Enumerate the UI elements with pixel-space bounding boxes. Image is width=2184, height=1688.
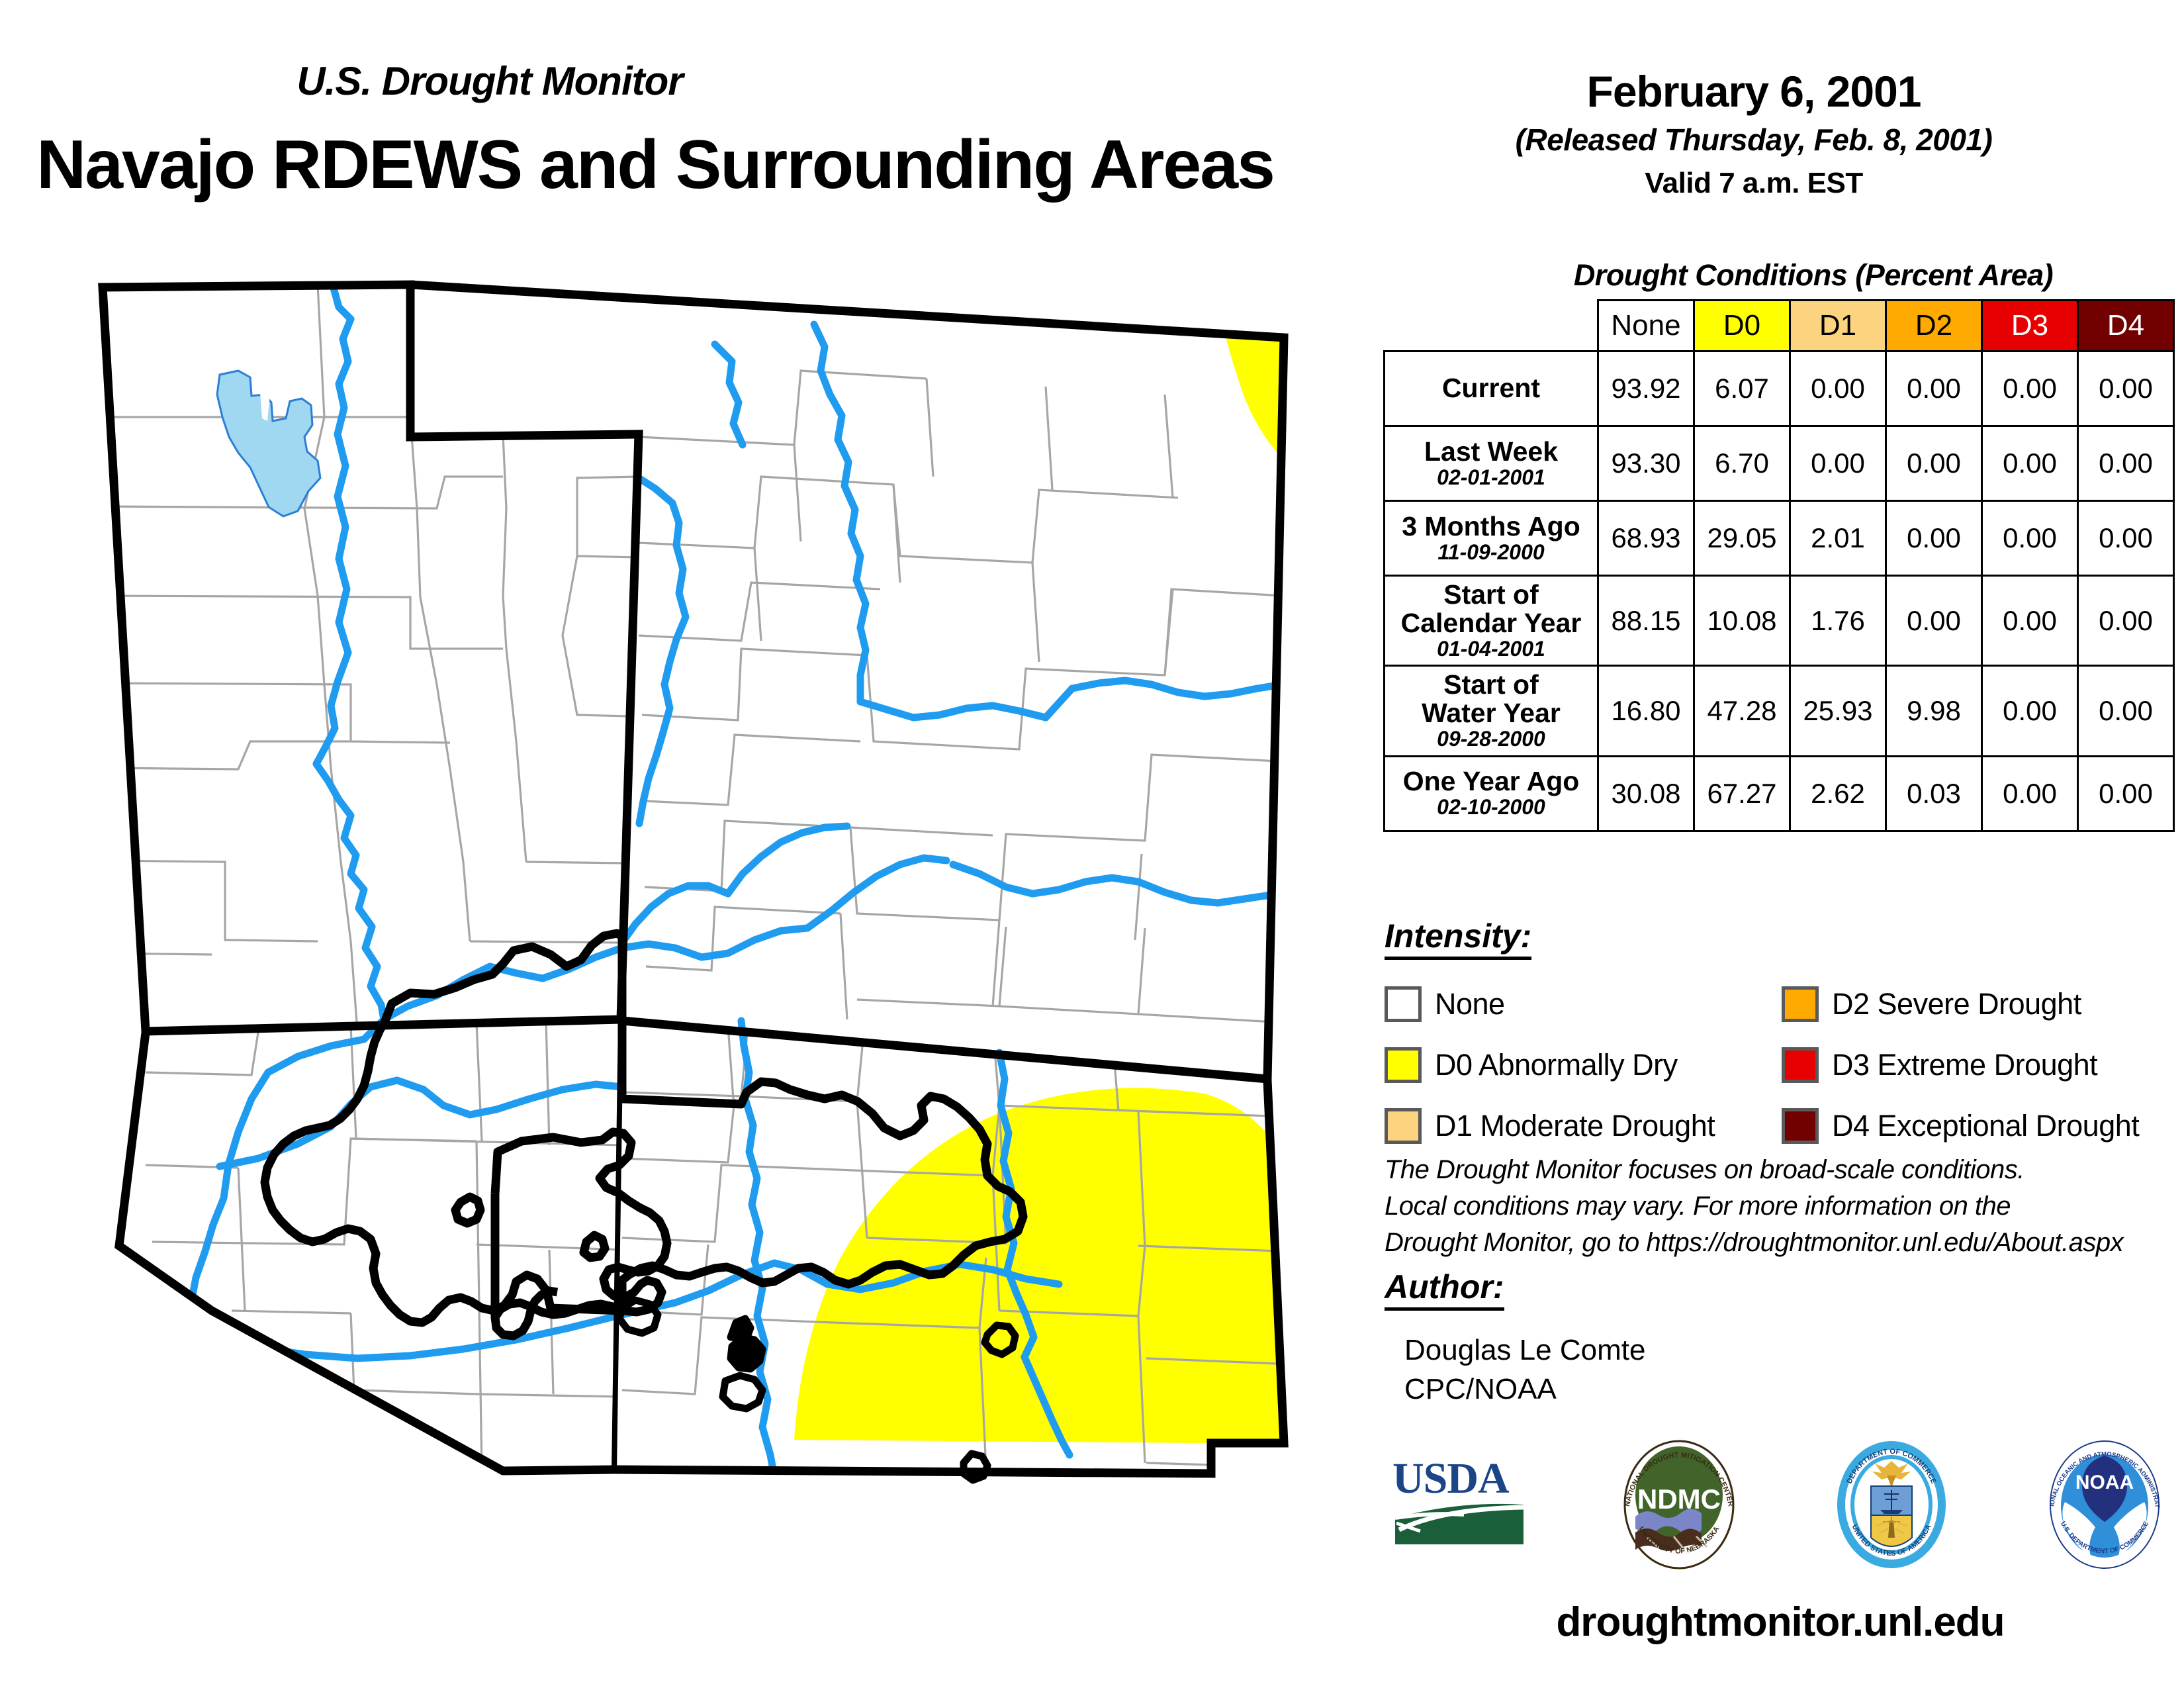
row-label-date: 02-10-2000 (1392, 796, 1590, 819)
table-cell-d2: 9.98 (1886, 666, 1982, 756)
table-cell-d0: 67.27 (1694, 756, 1790, 831)
table-cell-none: 16.80 (1598, 666, 1694, 756)
svg-text:NDMC: NDMC (1637, 1483, 1721, 1515)
row-label-text: Current (1392, 374, 1590, 402)
row-label-date: 09-28-2000 (1392, 727, 1590, 751)
author-name: Douglas Le Comte (1404, 1331, 1645, 1370)
table-cell-d3: 0.00 (1982, 352, 2078, 426)
release-date: (Released Thursday, Feb. 8, 2001) (1443, 122, 2065, 158)
program-title: U.S. Drought Monitor (0, 58, 979, 104)
legend-swatch-icon (1782, 1108, 1819, 1144)
intensity-heading: Intensity: (1385, 917, 1531, 960)
legend-item: D2 Severe Drought (1782, 980, 2165, 1029)
table-cell-d1: 2.01 (1790, 501, 1886, 576)
great-salt-lake (217, 371, 320, 516)
row-label-text: Last Week (1392, 438, 1590, 466)
intensity-legend: NoneD2 Severe DroughtD0 Abnormally DryD3… (1385, 980, 2165, 1150)
table-cell-d4: 0.00 (2078, 666, 2174, 756)
table-cell-none: 93.92 (1598, 352, 1694, 426)
legend-item: D1 Moderate Drought (1385, 1102, 1782, 1150)
table-row: Current93.926.070.000.000.000.00 (1385, 352, 2174, 426)
table-cell-d3: 0.00 (1982, 666, 2078, 756)
legend-label: D0 Abnormally Dry (1435, 1048, 1678, 1082)
noaa-logo: NOAA NATIONAL OCEANIC AND ATMOSPHERIC AD… (2038, 1438, 2171, 1574)
legend-swatch-icon (1385, 986, 1422, 1022)
legend-item: D4 Exceptional Drought (1782, 1102, 2165, 1150)
table-row: Last Week02-01-200193.306.700.000.000.00… (1385, 426, 2174, 501)
table-cell-d3: 0.00 (1982, 501, 2078, 576)
table-cell-d1: 0.00 (1790, 426, 1886, 501)
row-label-text: One Year Ago (1392, 767, 1590, 796)
column-header-d3: D3 (1982, 301, 2078, 352)
table-cell-d4: 0.00 (2078, 756, 2174, 831)
table-cell-d2: 0.00 (1886, 576, 1982, 666)
logo-row: USDA NDMC NATIONAL DROUGHT MITIGATION CE… (1390, 1440, 2171, 1572)
svg-text:★: ★ (1856, 1501, 1866, 1513)
table-cell-none: 30.08 (1598, 756, 1694, 831)
svg-text:★: ★ (1917, 1501, 1927, 1513)
row-label-text: Start ofWater Year (1392, 671, 1590, 727)
legend-swatch-icon (1385, 1108, 1422, 1144)
table-cell-d0: 47.28 (1694, 666, 1790, 756)
table-cell-d4: 0.00 (2078, 576, 2174, 666)
table-row-label: Start ofWater Year09-28-2000 (1385, 666, 1598, 756)
table-row: One Year Ago02-10-200030.0867.272.620.03… (1385, 756, 2174, 831)
row-label-text: 3 Months Ago (1392, 512, 1590, 541)
row-label-date: 01-04-2001 (1392, 637, 1590, 661)
table-cell-d0: 10.08 (1694, 576, 1790, 666)
table-cell-d3: 0.00 (1982, 756, 2078, 831)
table-cell-none: 68.93 (1598, 501, 1694, 576)
table-cell-d2: 0.00 (1886, 501, 1982, 576)
disclaimer-line-3: Drought Monitor, go to https://droughtmo… (1385, 1225, 2179, 1261)
table-cell-d1: 2.62 (1790, 756, 1886, 831)
row-label-date: 02-01-2001 (1392, 466, 1590, 489)
table-header-row: None D0 D1 D2 D3 D4 (1385, 301, 2174, 352)
table-row-label: Current (1385, 352, 1598, 426)
author-block: Douglas Le Comte CPC/NOAA (1404, 1331, 1645, 1409)
author-affiliation: CPC/NOAA (1404, 1370, 1645, 1409)
legend-label: D4 Exceptional Drought (1832, 1109, 2139, 1143)
table-row-label: One Year Ago02-10-2000 (1385, 756, 1598, 831)
table-row: 3 Months Ago11-09-200068.9329.052.010.00… (1385, 501, 2174, 576)
disclaimer-line-2: Local conditions may vary. For more info… (1385, 1188, 2179, 1225)
table-row: Start ofCalendar Year01-04-200188.1510.0… (1385, 576, 2174, 666)
row-label-text: Start ofCalendar Year (1392, 581, 1590, 637)
valid-date: February 6, 2001 (1443, 66, 2065, 117)
legend-swatch-icon (1782, 1047, 1819, 1083)
legend-label: D2 Severe Drought (1832, 987, 2081, 1021)
drought-map (40, 278, 1350, 1549)
legend-label: D3 Extreme Drought (1832, 1048, 2097, 1082)
table-cell-d4: 0.00 (2078, 501, 2174, 576)
column-header-d0: D0 (1694, 301, 1790, 352)
table-cell-d0: 6.70 (1694, 426, 1790, 501)
row-label-date: 11-09-2000 (1392, 541, 1590, 564)
table-cell-none: 88.15 (1598, 576, 1694, 666)
table-corner-cell (1385, 301, 1598, 352)
table-cell-d1: 25.93 (1790, 666, 1886, 756)
legend-label: D1 Moderate Drought (1435, 1109, 1715, 1143)
table-row-label: Start ofCalendar Year01-04-2001 (1385, 576, 1598, 666)
disclaimer: The Drought Monitor focuses on broad-sca… (1385, 1152, 2179, 1262)
disclaimer-line-1: The Drought Monitor focuses on broad-sca… (1385, 1152, 2179, 1188)
column-header-d2: D2 (1886, 301, 1982, 352)
table-cell-d2: 0.03 (1886, 756, 1982, 831)
date-block: February 6, 2001 (Released Thursday, Feb… (1443, 66, 2065, 200)
legend-swatch-icon (1782, 986, 1819, 1022)
legend-item: None (1385, 980, 1782, 1029)
svg-text:USDA: USDA (1392, 1454, 1510, 1503)
table-row: Start ofWater Year09-28-200016.8047.2825… (1385, 666, 2174, 756)
table-caption: Drought Conditions (Percent Area) (1482, 258, 2144, 293)
d0-drought-region-colorado-ne (1224, 332, 1284, 458)
table-row-label: 3 Months Ago11-09-2000 (1385, 501, 1598, 576)
svg-text:NOAA: NOAA (2075, 1472, 2134, 1493)
legend-swatch-icon (1385, 1047, 1422, 1083)
site-url: droughtmonitor.unl.edu (1390, 1599, 2171, 1646)
table-cell-d1: 0.00 (1790, 352, 1886, 426)
table-cell-d4: 0.00 (2078, 426, 2174, 501)
drought-conditions-table: None D0 D1 D2 D3 D4 Current93.926.070.00… (1383, 299, 2175, 832)
table-cell-d3: 0.00 (1982, 576, 2078, 666)
author-heading: Author: (1385, 1268, 1504, 1311)
department-of-commerce-seal: ★ ★ DEPARTMENT OF COMMERCE UNITED STATES… (1829, 1438, 1954, 1574)
table-cell-d1: 1.76 (1790, 576, 1886, 666)
column-header-none: None (1598, 301, 1694, 352)
table-cell-none: 93.30 (1598, 426, 1694, 501)
legend-item: D0 Abnormally Dry (1385, 1041, 1782, 1090)
table-cell-d4: 0.00 (2078, 352, 2174, 426)
valid-time: Valid 7 a.m. EST (1443, 167, 2065, 200)
legend-label: None (1435, 987, 1505, 1021)
column-header-d4: D4 (2078, 301, 2174, 352)
table-cell-d2: 0.00 (1886, 426, 1982, 501)
navajo-nation-boundary (265, 933, 1023, 1323)
table-cell-d0: 29.05 (1694, 501, 1790, 576)
table-cell-d2: 0.00 (1886, 352, 1982, 426)
usda-logo: USDA (1390, 1452, 1529, 1561)
page-title: Navajo RDEWS and Surrounding Areas (0, 126, 1529, 205)
column-header-d1: D1 (1790, 301, 1886, 352)
legend-item: D3 Extreme Drought (1782, 1041, 2165, 1090)
table-row-label: Last Week02-01-2001 (1385, 426, 1598, 501)
table-cell-d3: 0.00 (1982, 426, 2078, 501)
table-cell-d0: 6.07 (1694, 352, 1790, 426)
ndmc-logo: NDMC NATIONAL DROUGHT MITIGATION CENTER … (1613, 1438, 1745, 1574)
